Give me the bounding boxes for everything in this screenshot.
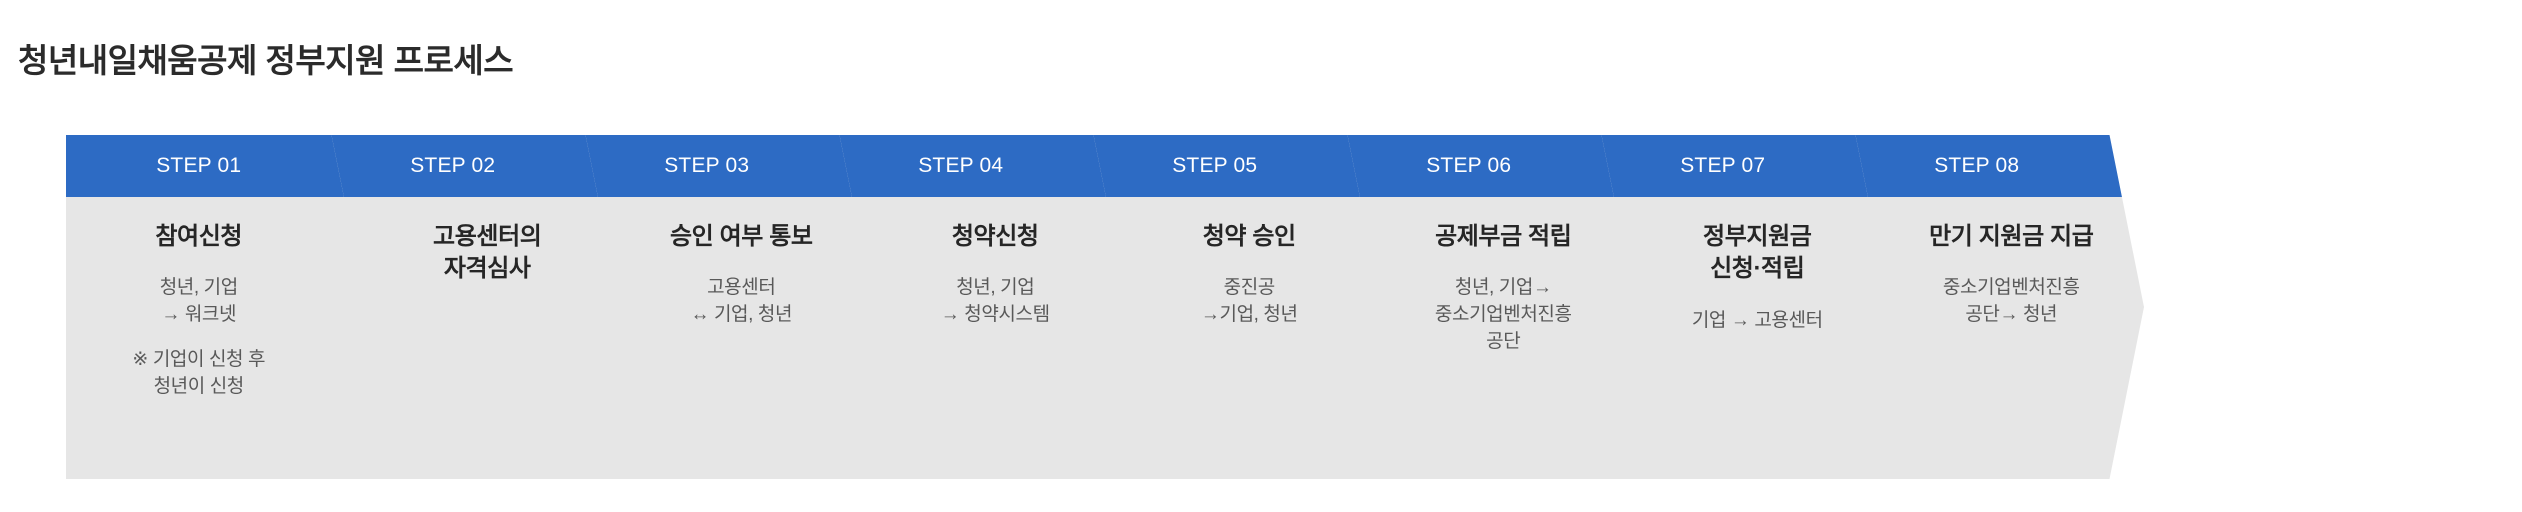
step-description: 청년, 기업 → 청약시스템 — [941, 275, 1050, 329]
step-body: 공제부금 적립청년, 기업→ 중소기업벤처진흥 공단 — [1336, 197, 1636, 479]
step-header-band: STEP 08 — [1844, 135, 2144, 197]
step-header-label: STEP 01 — [66, 135, 332, 197]
step-title: 승인 여부 통보 — [670, 221, 813, 253]
step-description: 중소기업벤처진흥 공단→ 청년 — [1943, 275, 2080, 329]
step-body: 참여신청청년, 기업 → 워크넷※ 기업이 신청 후 청년이 신청 — [66, 197, 332, 479]
step-description: 청년, 기업 → 워크넷 — [160, 275, 238, 329]
step-title: 고용센터의 자격심사 — [433, 221, 541, 286]
process-step-1: STEP 01참여신청청년, 기업 → 워크넷※ 기업이 신청 후 청년이 신청 — [66, 135, 366, 479]
step-header-band: STEP 05 — [1082, 135, 1382, 197]
process-flow-diagram: STEP 01참여신청청년, 기업 → 워크넷※ 기업이 신청 후 청년이 신청… — [0, 135, 2522, 479]
step-title: 청약 승인 — [1203, 221, 1296, 253]
step-title: 참여신청 — [155, 221, 242, 253]
step-header-band: STEP 02 — [320, 135, 620, 197]
step-header-label: STEP 04 — [828, 135, 1094, 197]
step-body: 고용센터의 자격심사 — [320, 197, 620, 479]
step-description: 고용센터 ↔ 기업, 청년 — [690, 275, 792, 329]
step-header-label: STEP 02 — [320, 135, 586, 197]
step-body: 정부지원금 신청·적립기업 → 고용센터 — [1590, 197, 1890, 479]
step-header-label: STEP 07 — [1590, 135, 1856, 197]
step-title: 청약신청 — [952, 221, 1039, 253]
step-title: 정부지원금 신청·적립 — [1703, 221, 1811, 286]
step-header-label: STEP 05 — [1082, 135, 1348, 197]
page-title: 청년내일채움공제 정부지원 프로세스 — [18, 34, 513, 82]
step-body: 청약신청청년, 기업 → 청약시스템 — [828, 197, 1128, 479]
step-description: 중진공 →기업, 청년 — [1201, 275, 1298, 329]
step-header-band: STEP 07 — [1590, 135, 1890, 197]
step-description: 청년, 기업→ 중소기업벤처진흥 공단 — [1435, 275, 1572, 356]
step-header-band: STEP 01 — [66, 135, 366, 197]
step-title: 공제부금 적립 — [1435, 221, 1571, 253]
step-body: 청약 승인중진공 →기업, 청년 — [1082, 197, 1382, 479]
step-body: 승인 여부 통보고용센터 ↔ 기업, 청년 — [574, 197, 874, 479]
step-header-band: STEP 03 — [574, 135, 874, 197]
step-title: 만기 지원금 지급 — [1929, 221, 2093, 253]
step-header-label: STEP 03 — [574, 135, 840, 197]
step-header-label: STEP 08 — [1844, 135, 2110, 197]
step-header-band: STEP 04 — [828, 135, 1128, 197]
step-note: ※ 기업이 신청 후 청년이 신청 — [132, 347, 265, 401]
step-header-label: STEP 06 — [1336, 135, 1602, 197]
step-header-band: STEP 06 — [1336, 135, 1636, 197]
step-body: 만기 지원금 지급중소기업벤처진흥 공단→ 청년 — [1844, 197, 2144, 479]
step-description: 기업 → 고용센터 — [1692, 308, 1823, 335]
